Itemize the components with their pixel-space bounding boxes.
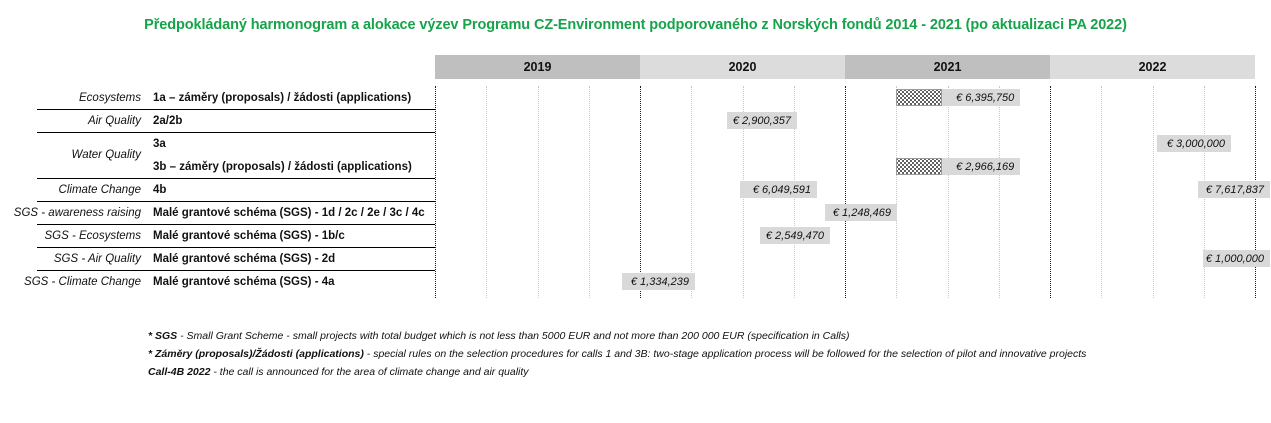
row-call-2a2b: 2a/2b bbox=[148, 115, 435, 127]
year-header-2022: 2022 bbox=[1050, 55, 1255, 79]
table-row: Ecosystems 1a – záměry (proposals) / žád… bbox=[0, 86, 435, 109]
gridline-year-2022-start bbox=[1050, 86, 1051, 298]
gridline-quarter bbox=[589, 86, 590, 298]
row-category-sgs-climate-change: SGS - Climate Change bbox=[0, 276, 148, 288]
gridline-quarter bbox=[1153, 86, 1154, 298]
row-call-sgs-air-quality: Malé grantové schéma (SGS) - 2d bbox=[148, 253, 435, 265]
gridline-year-2020-start bbox=[640, 86, 641, 298]
bar-water-quality-3b: € 2,966,169 bbox=[942, 158, 1020, 175]
bar-climate-change-4b-2022: € 7,617,837 bbox=[1198, 181, 1270, 198]
year-header-2020: 2020 bbox=[640, 55, 845, 79]
row-category-sgs-air-quality: SGS - Air Quality bbox=[0, 253, 148, 265]
table-row: SGS - Air Quality Malé grantové schéma (… bbox=[0, 247, 435, 270]
bar-air-quality-2a2b: € 2,900,357 bbox=[727, 112, 797, 129]
row-category-air-quality: Air Quality bbox=[0, 115, 148, 127]
row-call-3b: 3b – záměry (proposals) / žádosti (appli… bbox=[148, 161, 435, 173]
gridline-quarter bbox=[538, 86, 539, 298]
gridline-quarter bbox=[999, 86, 1000, 298]
gantt-plot-area: € 6,395,750 € 2,900,357 € 3,000,000 € 2,… bbox=[435, 86, 1255, 298]
row-category-climate-change: Climate Change bbox=[0, 184, 148, 196]
table-row: Air Quality 2a/2b bbox=[0, 109, 435, 132]
row-label-table: Ecosystems 1a – záměry (proposals) / žád… bbox=[0, 86, 435, 298]
row-category-sgs-awareness-raising: SGS - awareness raising bbox=[0, 207, 148, 219]
table-row: 3a bbox=[0, 132, 435, 155]
footnote-sgs-term: * SGS bbox=[148, 330, 177, 342]
footnotes-block: * SGS - Small Grant Scheme - small proje… bbox=[148, 330, 1258, 384]
bar-sgs-awareness-raising: € 1,248,469 bbox=[825, 204, 897, 221]
row-call-sgs-climate-change: Malé grantové schéma (SGS) - 4a bbox=[148, 276, 435, 288]
row-category-ecosystems: Ecosystems bbox=[0, 92, 148, 104]
footnote-sgs: * SGS - Small Grant Scheme - small proje… bbox=[148, 330, 1258, 342]
row-category-sgs-ecosystems: SGS - Ecosystems bbox=[0, 230, 148, 242]
row-call-sgs-awareness-raising: Malé grantové schéma (SGS) - 1d / 2c / 2… bbox=[148, 207, 435, 219]
gridline-quarter bbox=[1101, 86, 1102, 298]
bar-climate-change-4b-2020: € 6,049,591 bbox=[740, 181, 817, 198]
bar-hatch-water-quality-3b-proposals bbox=[896, 158, 942, 175]
gridline-year-2021-start bbox=[845, 86, 846, 298]
gridline-quarter bbox=[896, 86, 897, 298]
gridline-quarter bbox=[948, 86, 949, 298]
table-row: 3b – záměry (proposals) / žádosti (appli… bbox=[0, 155, 435, 178]
bar-water-quality-3a: € 3,000,000 bbox=[1157, 135, 1231, 152]
table-row: Climate Change 4b bbox=[0, 178, 435, 201]
table-row: SGS - Climate Change Malé grantové schém… bbox=[0, 270, 435, 293]
gridline-quarter bbox=[486, 86, 487, 298]
gridline-year-2019-start bbox=[435, 86, 436, 298]
bar-ecosystems-1a: € 6,395,750 bbox=[942, 89, 1020, 106]
year-header-band: 2019 2020 2021 2022 bbox=[435, 55, 1255, 79]
year-header-2021: 2021 bbox=[845, 55, 1050, 79]
row-call-3a: 3a bbox=[148, 138, 435, 150]
row-call-sgs-ecosystems: Malé grantové schéma (SGS) - 1b/c bbox=[148, 230, 435, 242]
page-title: Předpokládaný harmonogram a alokace výze… bbox=[0, 17, 1271, 33]
row-call-4b: 4b bbox=[148, 184, 435, 196]
table-row: SGS - awareness raising Malé grantové sc… bbox=[0, 201, 435, 224]
bar-sgs-ecosystems: € 2,549,470 bbox=[760, 227, 830, 244]
footnote-zamery: * Záměry (proposals)/Žádosti (applicatio… bbox=[148, 348, 1258, 360]
footnote-sgs-text: - Small Grant Scheme - small projects wi… bbox=[177, 330, 849, 342]
table-row: SGS - Ecosystems Malé grantové schéma (S… bbox=[0, 224, 435, 247]
footnote-call4b-text: - the call is announced for the area of … bbox=[210, 366, 528, 378]
bar-sgs-climate-change: € 1,334,239 bbox=[622, 273, 695, 290]
footnote-zamery-term: * Záměry (proposals)/Žádosti (applicatio… bbox=[148, 348, 364, 360]
gridline-quarter bbox=[691, 86, 692, 298]
footnote-zamery-text: - special rules on the selection procedu… bbox=[364, 348, 1087, 360]
year-header-2019: 2019 bbox=[435, 55, 640, 79]
row-call-1a: 1a – záměry (proposals) / žádosti (appli… bbox=[148, 92, 435, 104]
footnote-call4b-term: Call-4B 2022 bbox=[148, 366, 210, 378]
bar-hatch-ecosystems-1a-proposals bbox=[896, 89, 942, 106]
footnote-call4b: Call-4B 2022 - the call is announced for… bbox=[148, 366, 1258, 378]
bar-sgs-air-quality: € 1,000,000 bbox=[1203, 250, 1270, 267]
